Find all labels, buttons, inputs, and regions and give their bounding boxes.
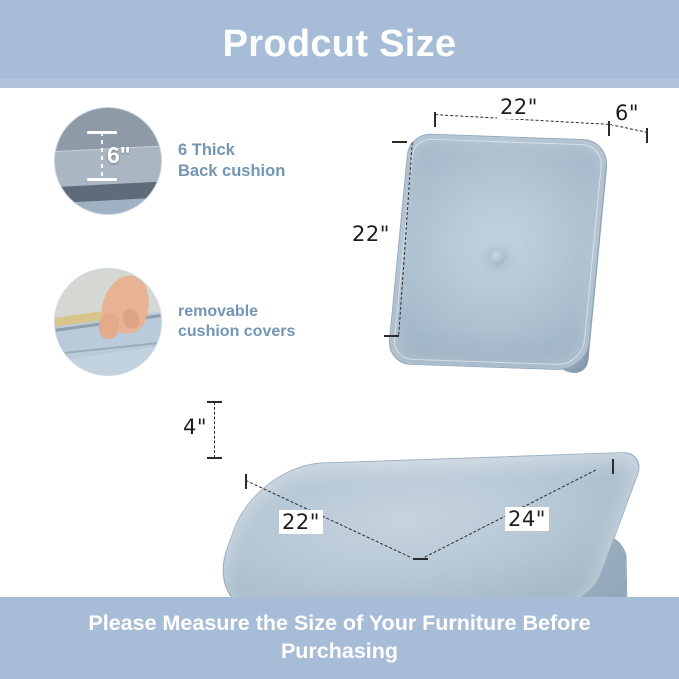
- back-cushion: [387, 133, 609, 371]
- dim-tick-seat-depth-start: [245, 474, 247, 489]
- dim-tick-back-height-bottom: [384, 335, 399, 337]
- header-underline-strip: [0, 79, 679, 88]
- dim-tick-seat-thickness-bottom: [207, 457, 222, 459]
- page-title: Prodcut Size: [223, 25, 457, 63]
- dim-label-seat-thickness: 4": [180, 415, 210, 439]
- dim-line-back-thickness: [610, 124, 647, 133]
- header-banner: Prodcut Size: [0, 0, 679, 88]
- dim-line-seat-thickness: [214, 402, 215, 458]
- footer-message: Please Measure the Size of Your Furnitur…: [27, 610, 652, 665]
- dim-tick-back-height-top: [392, 141, 407, 143]
- dim-tick-seat-thickness-top: [207, 401, 222, 403]
- content-area: 6" 6 Thick Back cushion removable cushio…: [0, 88, 679, 597]
- dim-label-seat-depth: 22": [279, 510, 323, 534]
- dim-label-back-width: 22": [497, 95, 541, 119]
- product-illustration: 22" 6" 22" 4" 22" 24": [0, 88, 679, 597]
- dim-label-seat-width: 24": [505, 507, 549, 531]
- dim-label-back-height: 22": [349, 222, 393, 246]
- dim-label-back-thickness: 6": [612, 101, 642, 125]
- dim-tick-back-thickness-right: [646, 128, 648, 143]
- footer-banner: Please Measure the Size of Your Furnitur…: [0, 597, 679, 679]
- dim-tick-seat-width-end: [612, 459, 614, 474]
- dim-tick-back-width-left: [434, 112, 436, 127]
- dim-tick-seat-width-start: [413, 558, 428, 560]
- product-size-infographic: Prodcut Size 6" 6 Thick Back cushion: [0, 0, 679, 679]
